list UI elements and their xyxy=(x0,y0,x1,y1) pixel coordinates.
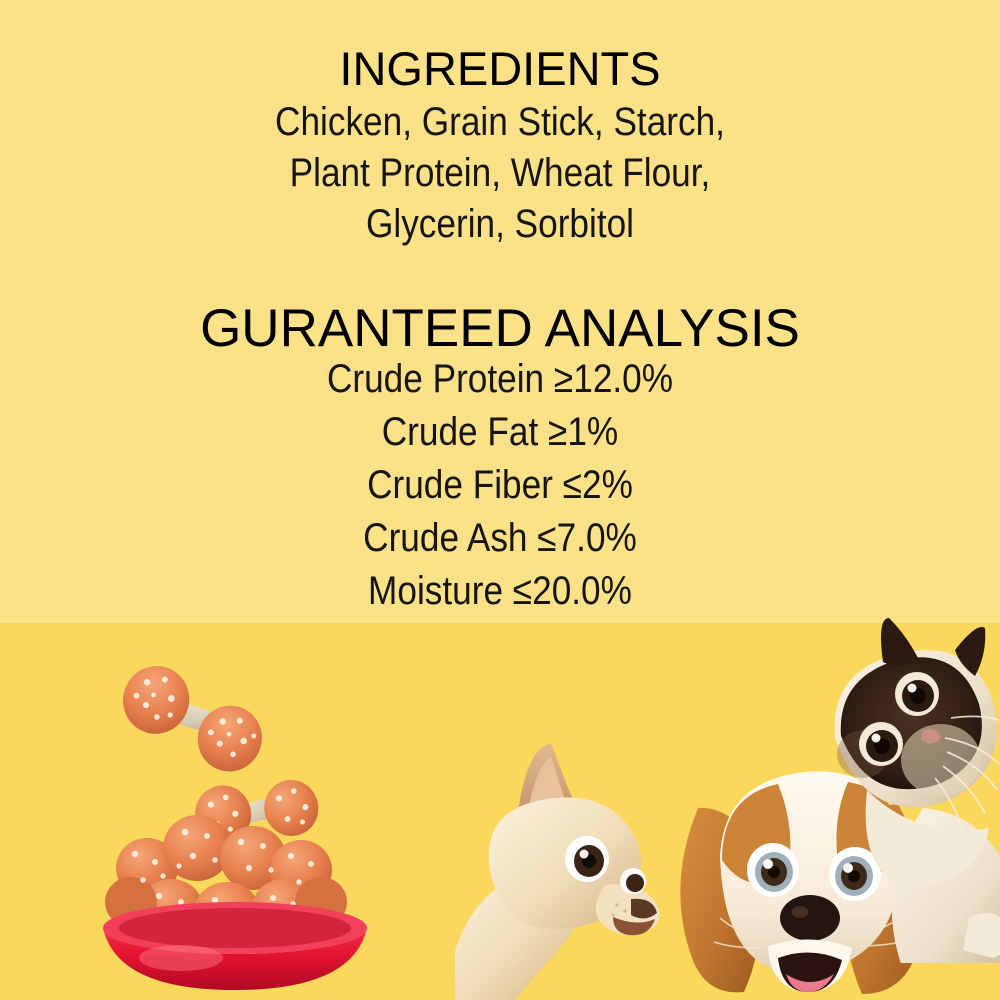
ingredients-list: Chicken, Grain Stick, Starch, Plant Prot… xyxy=(0,97,1000,250)
himalayan-cat-image xyxy=(805,618,1000,963)
guaranteed-analysis-list: Crude Protein ≥12.0% Crude Fat ≥1% Crude… xyxy=(0,353,1000,618)
ingredients-line: Glycerin, Sorbitol xyxy=(60,199,940,250)
analysis-row: Moisture ≤20.0% xyxy=(60,565,940,618)
analysis-row: Crude Fat ≥1% xyxy=(60,406,940,459)
guaranteed-analysis-heading-text: GURANTEED ANALYSIS xyxy=(200,299,800,358)
analysis-row: Crude Ash ≤7.0% xyxy=(60,512,940,565)
floating-treat xyxy=(110,657,275,779)
treat-bowl-image xyxy=(85,640,415,1000)
analysis-row: Crude Protein ≥12.0% xyxy=(60,353,940,406)
ingredients-line: Plant Protein, Wheat Flour, xyxy=(60,148,940,199)
ingredients-line: Chicken, Grain Stick, Starch, xyxy=(60,97,940,148)
ingredients-heading-text: INGREDIENTS xyxy=(339,42,660,95)
guaranteed-analysis-heading: GURANTEED ANALYSIS xyxy=(0,298,1000,359)
ingredients-heading: INGREDIENTS xyxy=(0,41,1000,96)
product-label-panel: INGREDIENTS Chicken, Grain Stick, Starch… xyxy=(0,0,1000,1000)
analysis-row: Crude Fiber ≤2% xyxy=(60,459,940,512)
red-bowl xyxy=(103,902,367,990)
